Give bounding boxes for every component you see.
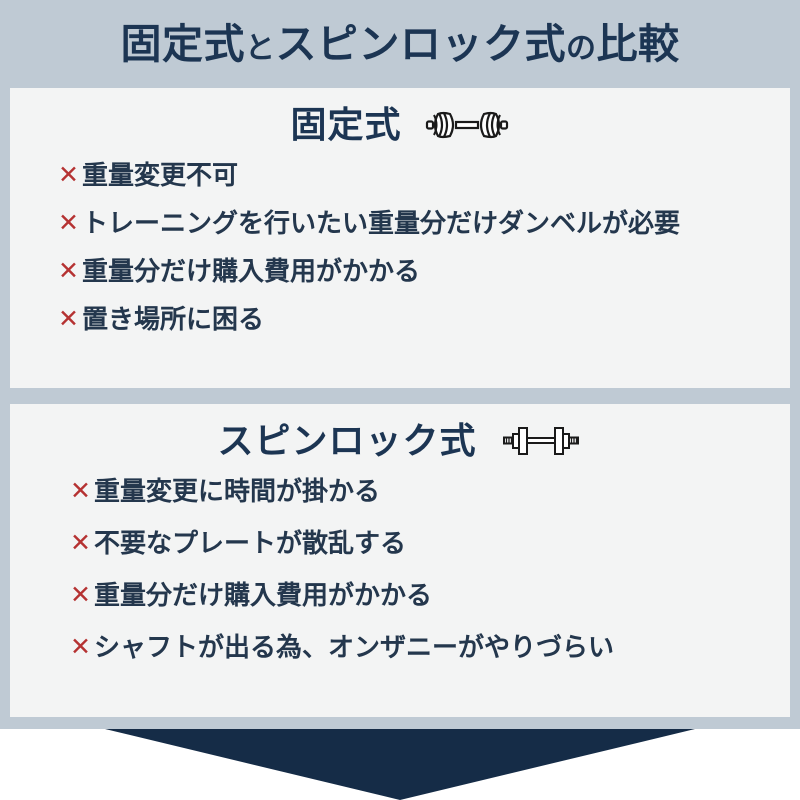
cross-icon: ✕ (58, 211, 79, 236)
title-particle-no: の (566, 32, 597, 65)
cross-icon: ✕ (58, 307, 79, 332)
comparison-infographic: 固定式とスピンロック式の比較 固定式 (0, 0, 800, 800)
list-item: ✕ 不要なプレートが散乱する (70, 530, 770, 556)
card-spinlock-header: スピンロック式 (10, 404, 790, 478)
title-particle-to: と (245, 32, 276, 65)
list-item-label: トレーニングを行いたい重量分だけダンベルが必要 (82, 210, 680, 236)
card-fixed-header: 固定式 (10, 88, 790, 162)
cross-icon: ✕ (70, 635, 91, 660)
list-item-label: シャフトが出る為、オンザニーがやりづらい (94, 634, 614, 660)
list-item: ✕ 重量分だけ購入費用がかかる (70, 582, 770, 608)
cross-icon: ✕ (58, 163, 79, 188)
cross-icon: ✕ (70, 531, 91, 556)
list-item-label: 重量分だけ購入費用がかかる (94, 582, 432, 608)
title-segment-comparison: 比較 (597, 21, 680, 67)
card-spinlock-bullet-list: ✕ 重量変更に時間が掛かる ✕ 不要なプレートが散乱する ✕ 重量分だけ購入費用… (10, 478, 790, 660)
card-fixed-bullet-list: ✕ 重量変更不可 ✕ トレーニングを行いたい重量分だけダンベルが必要 ✕ 重量分… (10, 162, 790, 332)
page-title-text: 固定式とスピンロック式の比較 (121, 24, 680, 65)
list-item: ✕ トレーニングを行いたい重量分だけダンベルが必要 (58, 210, 770, 236)
fixed-dumbbell-icon (424, 107, 510, 143)
list-item-label: 不要なプレートが散乱する (94, 530, 406, 556)
list-item: ✕ 重量変更に時間が掛かる (70, 478, 770, 504)
list-item: ✕ 重量変更不可 (58, 162, 770, 188)
list-item: ✕ シャフトが出る為、オンザニーがやりづらい (70, 634, 770, 660)
down-arrow-icon (105, 729, 695, 800)
cross-icon: ✕ (70, 479, 91, 504)
list-item-label: 重量変更不可 (82, 162, 238, 188)
cross-icon: ✕ (58, 259, 79, 284)
list-item-label: 重量分だけ購入費用がかかる (82, 258, 420, 284)
list-item-label: 重量変更に時間が掛かる (94, 478, 380, 504)
card-fixed-title: 固定式 (290, 107, 401, 143)
list-item: ✕ 置き場所に困る (58, 306, 770, 332)
title-segment-fixed: 固定式 (121, 21, 246, 67)
list-item-label: 置き場所に困る (82, 306, 264, 332)
card-fixed: 固定式 (10, 88, 790, 388)
title-segment-spinlock: スピンロック式 (276, 21, 567, 67)
page-title: 固定式とスピンロック式の比較 (0, 0, 800, 88)
list-item: ✕ 重量分だけ購入費用がかかる (58, 258, 770, 284)
card-spinlock: スピンロック式 (10, 404, 790, 717)
spinlock-dumbbell-icon (499, 424, 583, 458)
cross-icon: ✕ (70, 583, 91, 608)
card-spinlock-title: スピンロック式 (217, 423, 476, 459)
